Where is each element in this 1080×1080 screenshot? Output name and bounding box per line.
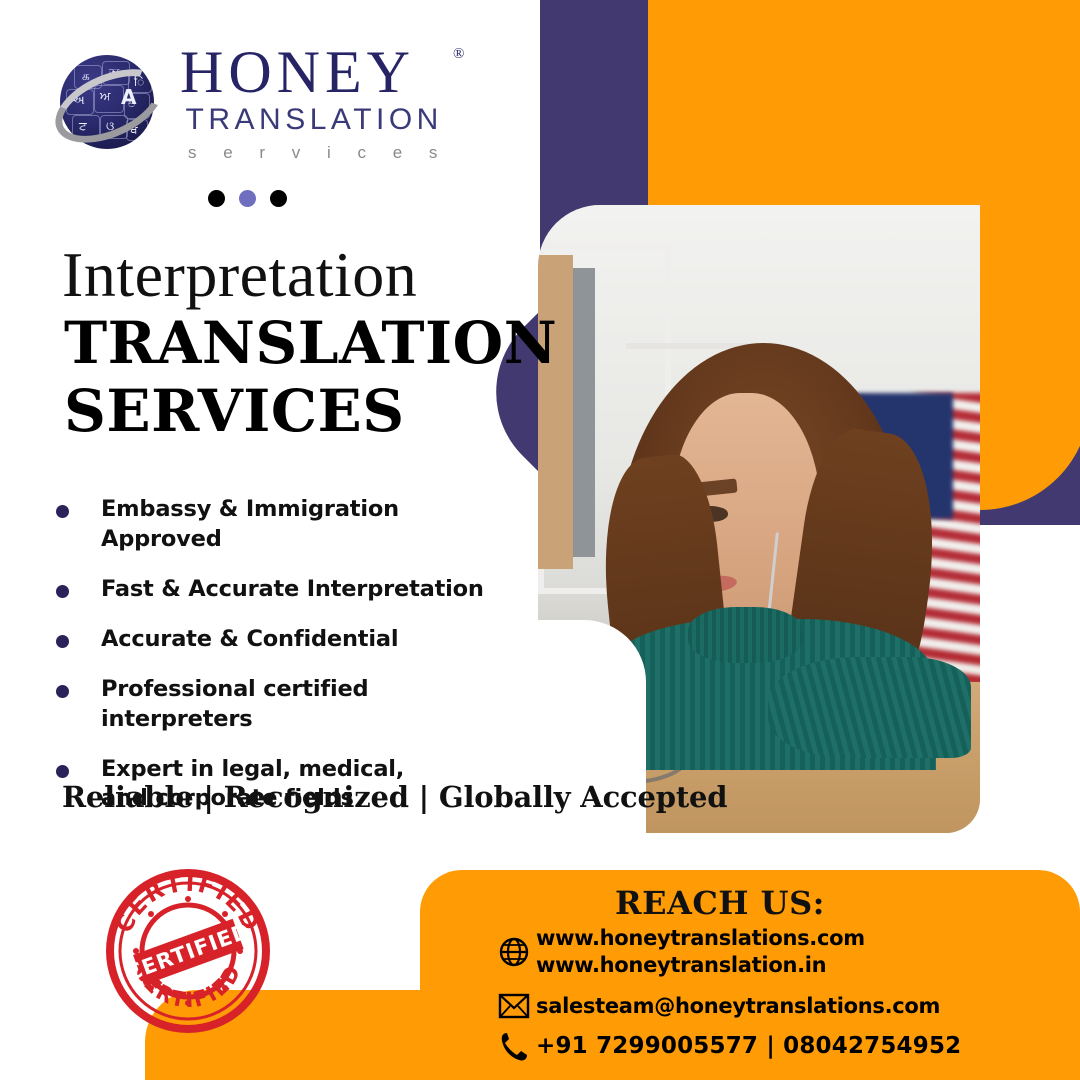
website-line-1[interactable]: www.honeytranslations.com xyxy=(536,925,865,952)
list-item: Embassy & Immigration Approved xyxy=(56,495,526,555)
website-line-2[interactable]: www.honeytranslation.in xyxy=(536,952,865,979)
list-item: Professional certified interpreters xyxy=(56,675,526,735)
decor-dots xyxy=(208,190,287,207)
contact-row-phone[interactable]: +91 7299005577 | 08042754952 xyxy=(492,1031,961,1063)
bullet-icon xyxy=(56,505,69,518)
bullet-icon xyxy=(56,765,69,778)
decor-dot-2 xyxy=(239,190,256,207)
envelope-icon xyxy=(492,993,536,1019)
list-item: Accurate & Confidential xyxy=(56,625,526,655)
brand-name-sub: TRANSLATION xyxy=(180,103,448,137)
photo-book-b xyxy=(573,268,595,557)
list-item-label: Accurate & Confidential xyxy=(101,625,398,655)
tagline: Reliable | Recognized | Globally Accepte… xyxy=(62,780,727,814)
registered-mark: ® xyxy=(453,46,464,63)
contact-heading: REACH US: xyxy=(615,884,825,922)
photo-collar xyxy=(688,607,803,664)
photo-arm xyxy=(768,657,971,757)
email-address[interactable]: salesteam@honeytranslations.com xyxy=(536,993,940,1020)
list-item-label: Embassy & Immigration Approved xyxy=(101,495,526,555)
brand-name-main: HONEY xyxy=(180,44,448,101)
globe-languages-icon: க অ ि અ ਅ ಅ A ਟ ଓ ਖ xyxy=(52,49,166,159)
brand-logo: க অ ि અ ਅ ಅ A ਟ ଓ ਖ HONEY ® TRANSLATION … xyxy=(52,44,448,163)
bullet-icon xyxy=(56,685,69,698)
list-item-label: Fast & Accurate Interpretation xyxy=(101,575,484,605)
contact-row-website[interactable]: www.honeytranslations.com www.honeytrans… xyxy=(492,925,961,980)
headline-line-2: SERVICES xyxy=(64,378,557,446)
list-item: Fast & Accurate Interpretation xyxy=(56,575,526,605)
headline-script: Interpretation xyxy=(62,238,417,312)
globe-icon xyxy=(492,936,536,968)
page-title: TRANSLATION SERVICES xyxy=(64,310,557,446)
bullet-icon xyxy=(56,585,69,598)
brand-wordmark: HONEY ® TRANSLATION s e r v i c e s xyxy=(180,44,448,163)
certified-stamp: CERTIFIED CERTIFIED CERTIFIED xyxy=(105,868,271,1034)
poster-canvas: க অ ि અ ਅ ಅ A ਟ ଓ ਖ HONEY ® TRANSLATION … xyxy=(0,0,1080,1080)
decor-dot-3 xyxy=(270,190,287,207)
bullet-icon xyxy=(56,635,69,648)
phone-numbers[interactable]: +91 7299005577 | 08042754952 xyxy=(536,1032,961,1062)
list-item-label: Professional certified interpreters xyxy=(101,675,526,735)
contact-list: www.honeytranslations.com www.honeytrans… xyxy=(492,925,961,1063)
brand-name-tagline: s e r v i c e s xyxy=(180,143,448,163)
contact-row-email[interactable]: salesteam@honeytranslations.com xyxy=(492,993,961,1020)
headline-line-1: TRANSLATION xyxy=(64,310,557,378)
phone-icon xyxy=(492,1031,536,1063)
decor-dot-1 xyxy=(208,190,225,207)
